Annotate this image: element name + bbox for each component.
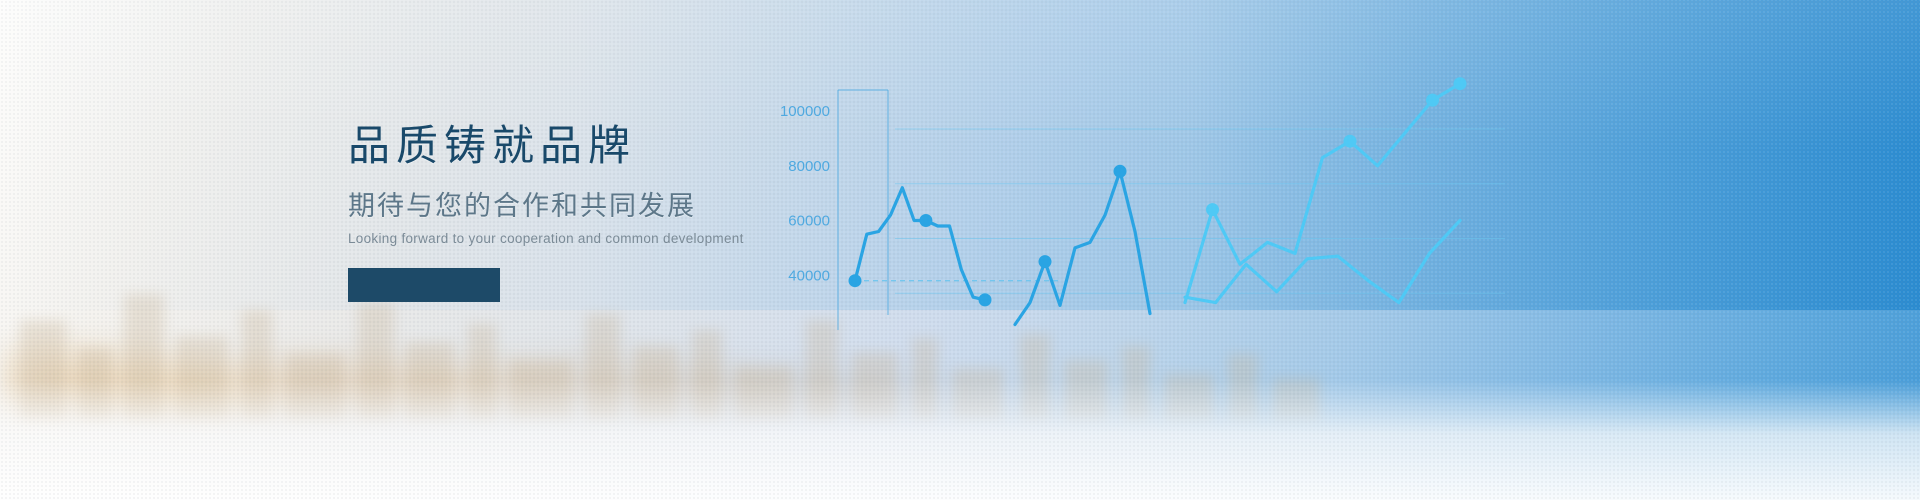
chart-data-point bbox=[1114, 165, 1127, 178]
chart-line bbox=[1015, 171, 1150, 324]
y-tick-label: 80000 bbox=[788, 158, 830, 175]
chart-canvas: 400006000080000100000 bbox=[760, 60, 1540, 350]
hero-banner: 品质铸就品牌 期待与您的合作和共同发展 Looking forward to y… bbox=[0, 0, 1920, 500]
page-subtitle: 期待与您的合作和共同发展 bbox=[348, 190, 778, 222]
chart-data-point bbox=[1039, 255, 1052, 268]
chart-data-point bbox=[1206, 203, 1219, 216]
chart-data-point bbox=[1426, 94, 1439, 107]
page-title: 品质铸就品牌 bbox=[348, 122, 778, 170]
chart-data-point bbox=[919, 214, 932, 227]
line-chart: 400006000080000100000 bbox=[760, 60, 1540, 350]
chart-series bbox=[849, 77, 1467, 324]
y-tick-label: 60000 bbox=[788, 213, 830, 230]
y-tick-label: 100000 bbox=[780, 103, 830, 120]
chart-y-tick-labels: 400006000080000100000 bbox=[780, 103, 830, 284]
chart-data-point bbox=[979, 293, 992, 306]
y-tick-label: 40000 bbox=[788, 267, 830, 284]
page-subtitle-en: Looking forward to your cooperation and … bbox=[348, 231, 778, 246]
chart-axis bbox=[838, 90, 888, 330]
chart-data-point bbox=[1454, 77, 1467, 90]
chart-line bbox=[1185, 221, 1460, 303]
chart-line bbox=[855, 188, 985, 300]
cta-button[interactable] bbox=[348, 268, 500, 302]
banner-copy: 品质铸就品牌 期待与您的合作和共同发展 Looking forward to y… bbox=[348, 122, 778, 302]
chart-data-point bbox=[1344, 135, 1357, 148]
chart-data-point bbox=[849, 274, 862, 287]
chart-gridlines bbox=[855, 129, 1505, 293]
